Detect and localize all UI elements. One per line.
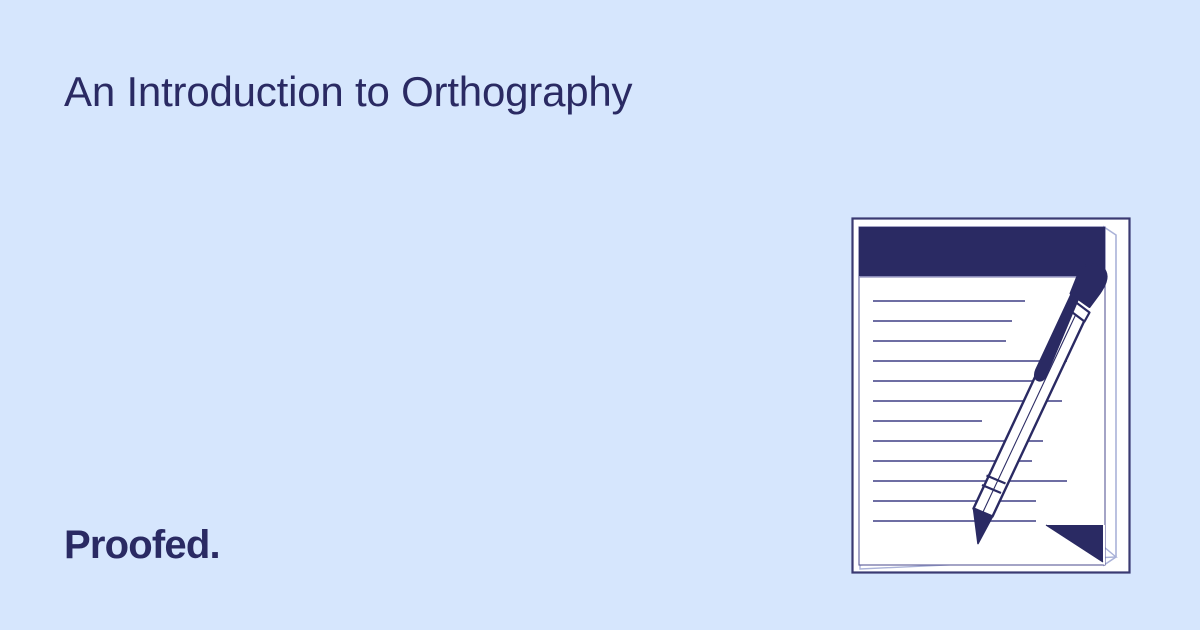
notepad-header-band-underline <box>859 276 1105 278</box>
brand-logo: Proofed. <box>64 521 220 569</box>
page-title: An Introduction to Orthography <box>64 66 632 119</box>
notepad-with-pen-illustration <box>840 205 1140 590</box>
social-card-canvas: An Introduction to Orthography Proofed. <box>0 0 1200 630</box>
notepad-header-band <box>859 227 1105 276</box>
